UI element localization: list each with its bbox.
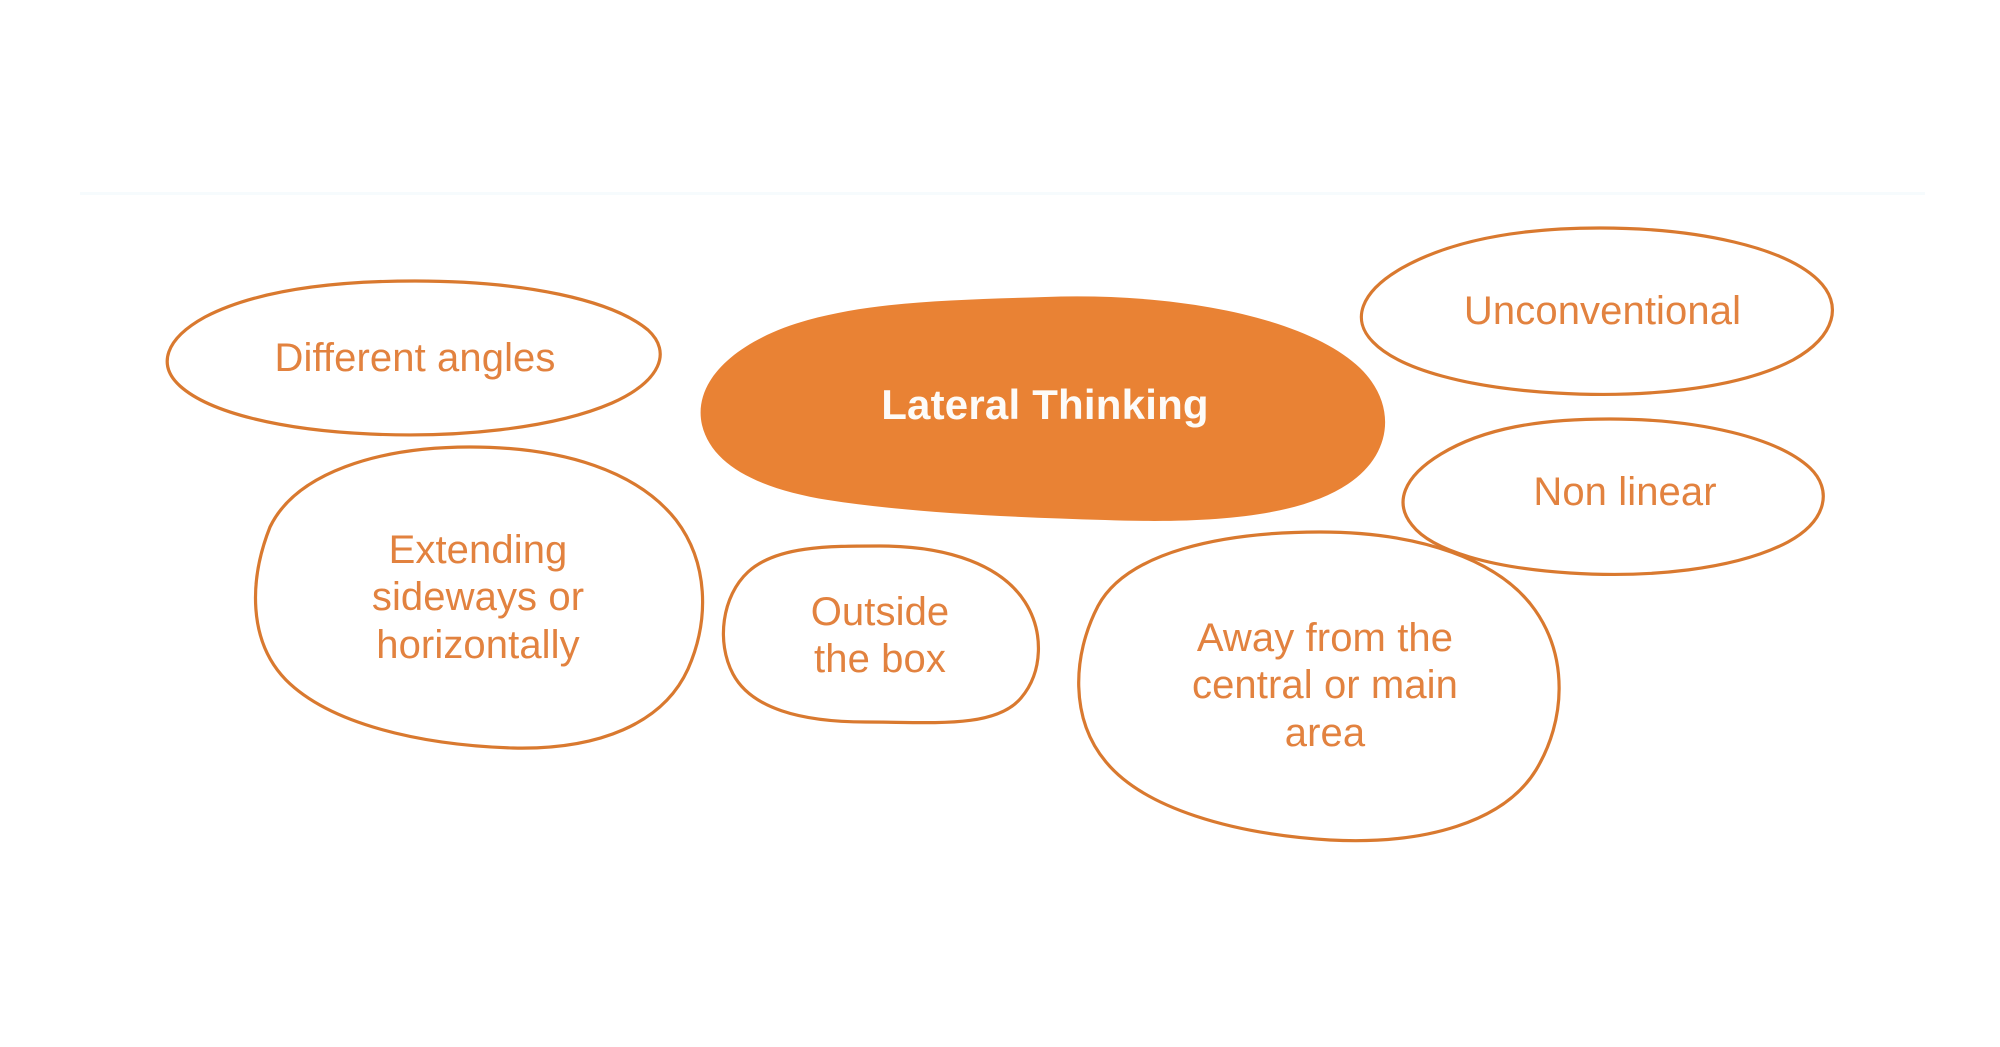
branch-node-away-central[interactable]: Away from the central or main area — [1090, 530, 1560, 826]
branch-node-different-angles[interactable]: Different angles — [170, 285, 660, 433]
branch-label-away-central: Away from the central or main area — [1192, 615, 1458, 757]
diagram-canvas: Lateral Thinking Different angles Extend… — [0, 0, 2000, 1047]
branch-node-non-linear[interactable]: Non linear — [1425, 422, 1825, 564]
branch-node-unconventional[interactable]: Unconventional — [1375, 232, 1830, 392]
slide-edge-line — [80, 192, 1925, 195]
branch-node-extending[interactable]: Extending sideways or horizontally — [258, 448, 698, 744]
branch-label-outside-box: Outside the box — [811, 589, 950, 683]
branch-label-different-angles: Different angles — [274, 335, 555, 382]
center-node[interactable]: Lateral Thinking — [700, 300, 1390, 518]
branch-label-unconventional: Unconventional — [1464, 288, 1741, 335]
branch-label-non-linear: Non linear — [1533, 469, 1716, 516]
branch-node-outside-box[interactable]: Outside the box — [730, 548, 1030, 720]
branch-label-extending: Extending sideways or horizontally — [372, 527, 584, 669]
center-node-label: Lateral Thinking — [881, 380, 1209, 430]
